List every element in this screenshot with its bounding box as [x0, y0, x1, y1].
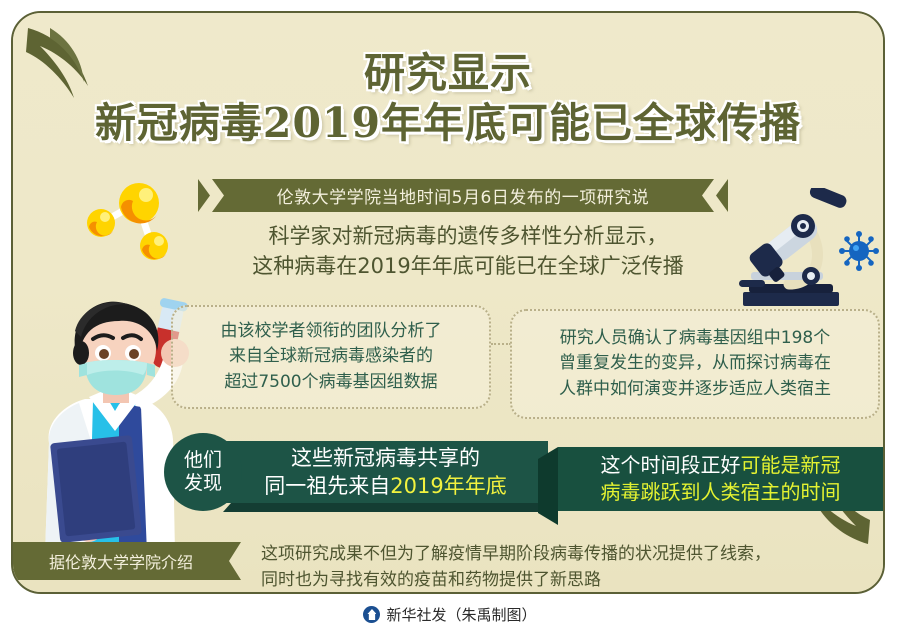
molecule-illustration [71, 181, 181, 276]
lede-line-2: 这种病毒在2019年年底可能已在全球广泛传播 [198, 251, 738, 281]
finding-right-line-2-highlight: 病毒跳跃到人类宿主的时间 [601, 480, 841, 504]
bottom-line-1: 这项研究成果不但为了解疫情早期阶段病毒传播的状况提供了线索， [261, 541, 881, 567]
finding-right-line-1-plain: 这个时间段正好 [601, 453, 741, 477]
bottom-line-2: 同时也为寻找有效的疫苗和药物提供了新思路 [261, 567, 881, 593]
chevron-left-icon [702, 179, 728, 212]
virus-particle-icon [839, 231, 879, 271]
title-line-1: 研究显示 [13, 51, 883, 97]
source-ribbon-text: 伦敦大学学院当地时间5月6日发布的一项研究说 [277, 183, 650, 208]
poster-frame: 研究显示 新冠病毒2019年年底可能已全球传播 伦敦大学学院当地时间5月6日发布… [11, 11, 885, 594]
xinhua-logo-icon [363, 606, 380, 623]
badge-line-1: 他们 [184, 449, 222, 471]
callout-left: 由该校学者领衔的团队分析了 来自全球新冠病毒感染者的 超过7500个病毒基因组数… [171, 305, 491, 409]
source-ribbon: 伦敦大学学院当地时间5月6日发布的一项研究说 [198, 179, 728, 212]
callout-right-line-3: 人群中如何演变并逐步适应人类宿主 [559, 379, 831, 399]
footer-credit-text: 新华社发（朱禹制图） [386, 604, 536, 625]
they-found-badge: 他们 发现 [164, 433, 242, 511]
lede-paragraph: 科学家对新冠病毒的遗传多样性分析显示， 这种病毒在2019年年底可能已在全球广泛… [198, 221, 738, 282]
callout-left-line-3: 超过7500个病毒基因组数据 [224, 372, 437, 392]
badge-line-2: 发现 [184, 472, 222, 494]
infographic-poster: 研究显示 新冠病毒2019年年底可能已全球传播 伦敦大学学院当地时间5月6日发布… [0, 0, 900, 639]
callout-right: 研究人员确认了病毒基因组中198个 曾重复发生的变异，从而探讨病毒在 人群中如何… [510, 309, 880, 419]
bottom-source-banner-text: 据伦敦大学学院介绍 [49, 549, 193, 573]
callout-connector [491, 343, 511, 345]
finding-band-left: 这些新冠病毒共享的 同一祖先来自2019年年底 [223, 441, 548, 503]
finding-left-line-2-plain: 同一祖先来自 [264, 474, 390, 498]
callout-right-line-1: 研究人员确认了病毒基因组中198个 [560, 328, 830, 348]
poster-title: 研究显示 新冠病毒2019年年底可能已全球传播 [13, 51, 883, 147]
finding-band-left-text: 这些新冠病毒共享的 同一祖先来自2019年年底 [264, 444, 506, 501]
footer-credit: 新华社发（朱禹制图） [0, 604, 900, 625]
bottom-paragraph: 这项研究成果不但为了解疫情早期阶段病毒传播的状况提供了线索， 同时也为寻找有效的… [261, 541, 881, 594]
chevron-right-icon [198, 179, 224, 212]
title-line-2: 新冠病毒2019年年底可能已全球传播 [13, 101, 883, 147]
finding-left-line-2-highlight: 2019年年底 [390, 474, 506, 498]
callout-left-line-2: 来自全球新冠病毒感染者的 [229, 346, 433, 366]
bottom-source-banner: 据伦敦大学学院介绍 [11, 542, 241, 580]
finding-band-right-text: 这个时间段正好可能是新冠 病毒跳跃到人类宿主的时间 [593, 452, 849, 506]
finding-band-right: 这个时间段正好可能是新冠 病毒跳跃到人类宿主的时间 [558, 447, 883, 511]
finding-left-line-1: 这些新冠病毒共享的 [291, 446, 480, 470]
callout-left-line-1: 由该校学者领衔的团队分析了 [221, 321, 442, 341]
callout-right-line-2: 曾重复发生的变异，从而探讨病毒在 [559, 353, 831, 373]
finding-right-line-1-highlight: 可能是新冠 [741, 453, 841, 477]
lede-line-1: 科学家对新冠病毒的遗传多样性分析显示， [198, 221, 738, 251]
